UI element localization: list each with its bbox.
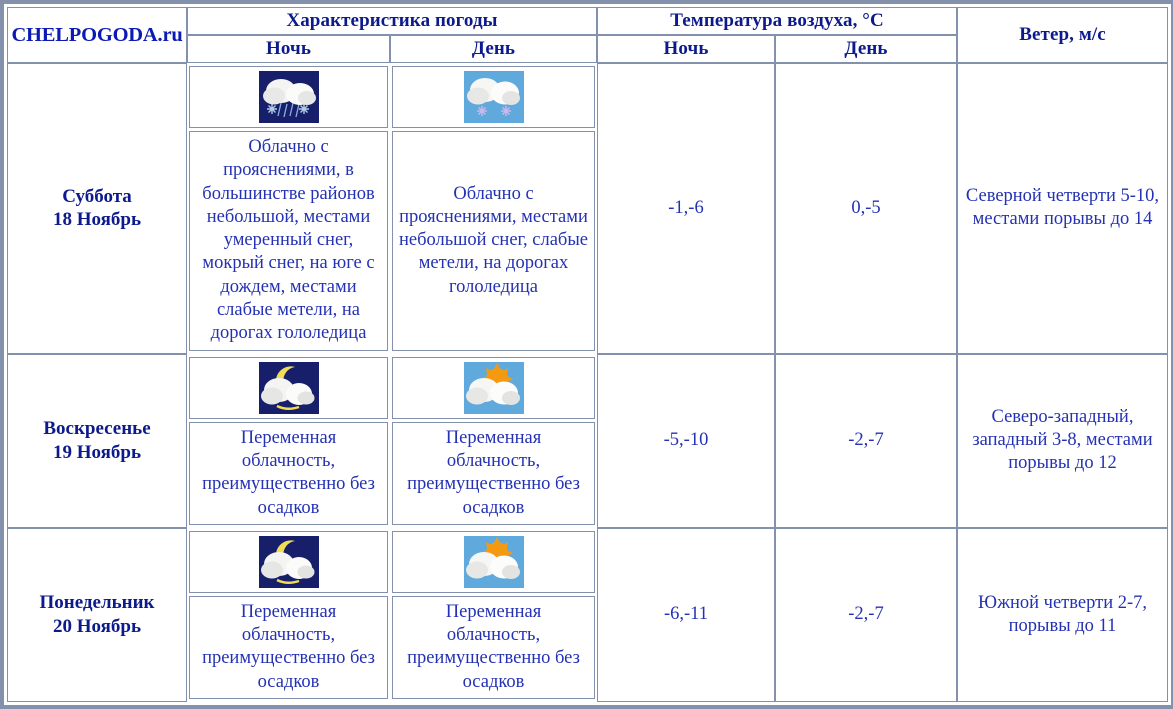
night-condition-text: Переменная облачность, преимущественно б… <box>194 601 383 694</box>
day-condition-text-box: Переменная облачность, преимущественно б… <box>392 422 595 525</box>
day-label-cell: Воскресенье 19 Ноябрь <box>7 354 187 528</box>
night-weather-icon-box <box>189 66 388 128</box>
day-date: 19 Ноябрь <box>11 441 183 465</box>
day-condition-text: Переменная облачность, преимущественно б… <box>397 427 590 520</box>
header-temperature-day: День <box>775 35 957 63</box>
day-weather-icon-box <box>392 357 595 419</box>
night-condition-text: Облачно с прояснениями, в большинстве ра… <box>194 136 383 346</box>
day-snow-icon <box>464 71 524 123</box>
brand-cell: CHELPOGODA.ru <box>7 7 187 63</box>
header-conditions-group: Характеристика погоды <box>187 7 597 35</box>
header-temperature-night: Ночь <box>597 35 775 63</box>
day-condition-text: Переменная облачность, преимущественно б… <box>397 601 590 694</box>
day-weekday: Понедельник <box>11 591 183 615</box>
night-condition-cell: Облачно с прояснениями, в большинстве ра… <box>187 63 390 354</box>
night-condition-cell: Переменная облачность, преимущественно б… <box>187 354 390 528</box>
temperature-night-cell: -6,-11 <box>597 528 775 702</box>
day-condition-cell: Переменная облачность, преимущественно б… <box>390 528 597 702</box>
day-date: 18 Ноябрь <box>11 208 183 232</box>
day-weather-icon-box <box>392 531 595 593</box>
day-date: 20 Ноябрь <box>11 615 183 639</box>
day-weekday: Воскресенье <box>11 417 183 441</box>
day-label-cell: Понедельник 20 Ноябрь <box>7 528 187 702</box>
night-weather-icon-box <box>189 531 388 593</box>
brand-logo-text: CHELPOGODA.ru <box>11 24 183 47</box>
header-wind-group: Ветер, м/с <box>957 7 1168 63</box>
temperature-day-cell: -2,-7 <box>775 528 957 702</box>
night-condition-cell: Переменная облачность, преимущественно б… <box>187 528 390 702</box>
day-partly-cloudy-icon <box>464 536 524 588</box>
day-partly-cloudy-icon <box>464 362 524 414</box>
table-row: Понедельник 20 Ноябрь <box>7 528 1168 702</box>
night-weather-icon-box <box>189 357 388 419</box>
wind-cell: Северо-западный, западный 3-8, местами п… <box>957 354 1168 528</box>
wind-cell: Северной четверти 5-10, местами порывы д… <box>957 63 1168 354</box>
header-temperature-group: Температура воздуха, °C <box>597 7 957 35</box>
wind-cell: Южной четверти 2-7, порывы до 11 <box>957 528 1168 702</box>
weather-forecast-table: CHELPOGODA.ru Характеристика погоды Темп… <box>0 0 1173 709</box>
day-weather-icon-box <box>392 66 595 128</box>
night-condition-text-box: Облачно с прояснениями, в большинстве ра… <box>189 131 388 351</box>
header-conditions-night: Ночь <box>187 35 390 63</box>
day-condition-text-box: Переменная облачность, преимущественно б… <box>392 596 595 699</box>
temperature-night-cell: -5,-10 <box>597 354 775 528</box>
table-row: Суббота 18 Ноябрь <box>7 63 1168 354</box>
temperature-day-cell: -2,-7 <box>775 354 957 528</box>
day-condition-cell: Облачно с прояснениями, местами небольшо… <box>390 63 597 354</box>
night-partly-cloudy-icon <box>259 362 319 414</box>
night-condition-text: Переменная облачность, преимущественно б… <box>194 427 383 520</box>
night-condition-text-box: Переменная облачность, преимущественно б… <box>189 596 388 699</box>
header-row-groups: CHELPOGODA.ru Характеристика погоды Темп… <box>7 7 1168 35</box>
night-snow-icon <box>259 71 319 123</box>
temperature-night-cell: -1,-6 <box>597 63 775 354</box>
night-partly-cloudy-icon <box>259 536 319 588</box>
day-condition-text-box: Облачно с прояснениями, местами небольшо… <box>392 131 595 351</box>
day-label-cell: Суббота 18 Ноябрь <box>7 63 187 354</box>
day-condition-text: Облачно с прояснениями, местами небольшо… <box>397 183 590 299</box>
day-condition-cell: Переменная облачность, преимущественно б… <box>390 354 597 528</box>
table-row: Воскресенье 19 Ноябрь <box>7 354 1168 528</box>
header-conditions-day: День <box>390 35 597 63</box>
day-weekday: Суббота <box>11 185 183 209</box>
night-condition-text-box: Переменная облачность, преимущественно б… <box>189 422 388 525</box>
temperature-day-cell: 0,-5 <box>775 63 957 354</box>
